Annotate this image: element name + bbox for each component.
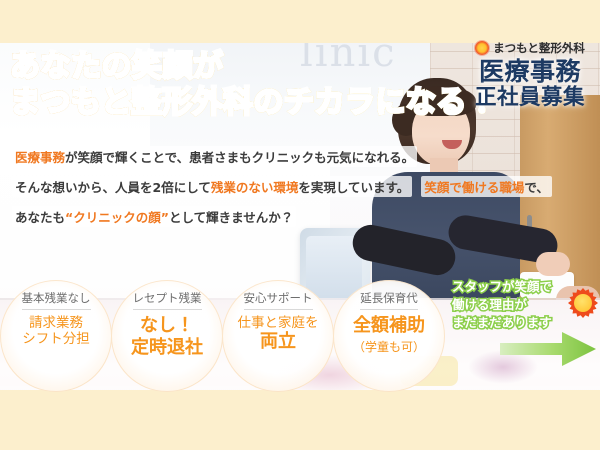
feature-4-body: 全額補助 （学童も可） — [333, 315, 445, 356]
copy-line-1-rest: が笑顔で輝くことで、患者さまもクリニックも元気になれる。 — [65, 150, 414, 165]
feature-4-line-2: （学童も可） — [353, 340, 425, 354]
headline-line-2: まつもと整形外科のチカラになる！ — [10, 88, 497, 119]
feature-item-2: レセプト残業 なし！ 定時退社 — [111, 280, 223, 392]
top-cream-band — [0, 0, 600, 43]
sun-logo-icon — [475, 41, 489, 55]
feature-3-line-2: 両立 — [222, 331, 334, 353]
callout-block: スタッフが笑顔で 働ける理由が まだまだあります — [452, 278, 600, 331]
job-type: 正社員募集 — [468, 86, 592, 110]
feature-item-1: 基本残業なし 請求業務 シフト分担 — [0, 280, 112, 392]
copy-line-4-post: として輝きませんか？ — [169, 210, 293, 225]
feature-2-head: レセプト残業 — [133, 290, 202, 310]
feature-1-line-2: シフト分担 — [0, 331, 112, 347]
feature-1-body: 請求業務 シフト分担 — [0, 315, 112, 348]
copy-line-3-highlight: 笑顔で働ける職場 — [424, 180, 524, 195]
arrow-right-icon[interactable] — [500, 330, 596, 368]
feature-1-line-1: 請求業務 — [0, 315, 112, 331]
sun-mascot-icon — [568, 288, 598, 318]
bottom-cream-band — [0, 390, 600, 450]
clinic-identity: まつもと整形外科 — [468, 40, 592, 56]
copy-line-2-pre: そんな想いから、人員を2倍にして — [15, 180, 211, 195]
feature-4-head: 延長保育代 — [360, 290, 418, 310]
copy-line-3: 笑顔で働ける職場で、 — [421, 176, 552, 197]
headline: あなたの笑顔が まつもと整形外科のチカラになる！ — [10, 52, 497, 118]
feature-list: 基本残業なし 請求業務 シフト分担 レセプト残業 なし！ 定時退社 安心サポート… — [0, 280, 450, 390]
job-title: 医療事務 — [468, 58, 592, 86]
feature-3-body: 仕事と家庭を 両立 — [222, 315, 334, 353]
clinic-name: まつもと整形外科 — [493, 40, 585, 56]
copy-line-4-pre: あなたも — [15, 210, 65, 225]
feature-2-body: なし！ 定時退社 — [111, 315, 223, 359]
copy-line-4: あなたも“クリニックの顔”として輝きませんか？ — [12, 206, 296, 227]
staff-hand — [536, 252, 570, 276]
feature-3-line-1: 仕事と家庭を — [222, 315, 334, 331]
copy-line-3-post: で、 — [524, 180, 549, 195]
copy-line-4-highlight: “クリニックの顔” — [65, 210, 169, 225]
feature-3-head: 安心サポート — [244, 290, 313, 310]
recruitment-banner: linic あなたの笑顔が まつもと整形外科のチカラになる！ 医療事務が笑顔で輝… — [0, 0, 600, 450]
feature-1-head: 基本残業なし — [22, 290, 91, 310]
recruit-block: まつもと整形外科 医療事務 正社員募集 — [468, 40, 592, 110]
feature-2-line-1: なし！ — [111, 315, 223, 337]
copy-line-2-post: を実現しています。 — [298, 180, 409, 195]
feature-item-3: 安心サポート 仕事と家庭を 両立 — [222, 280, 334, 392]
copy-line-2: そんな想いから、人員を2倍にして残業のない環境を実現しています。 — [12, 176, 412, 197]
feature-4-line-1: 全額補助 — [333, 315, 445, 337]
body-copy: 医療事務が笑顔で輝くことで、患者さまもクリニックも元気になれる。 そんな想いから… — [12, 146, 600, 236]
feature-2-line-2: 定時退社 — [111, 337, 223, 359]
copy-line-1: 医療事務が笑顔で輝くことで、患者さまもクリニックも元気になれる。 — [12, 146, 417, 167]
headline-line-1: あなたの笑顔が — [10, 52, 497, 83]
mascot-face-shape — [574, 294, 592, 312]
feature-item-4: 延長保育代 全額補助 （学童も可） — [333, 280, 445, 392]
copy-line-2-highlight: 残業のない環境 — [211, 180, 299, 195]
copy-line-1-highlight: 医療事務 — [15, 150, 65, 165]
